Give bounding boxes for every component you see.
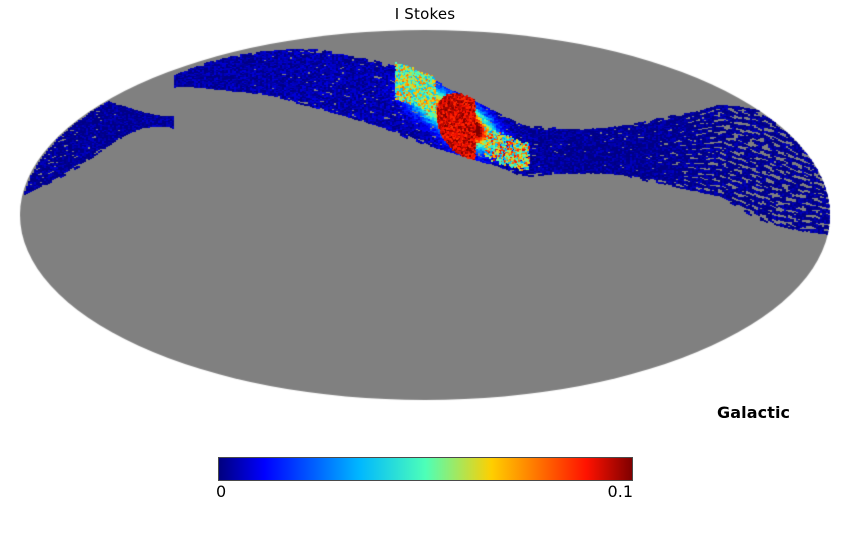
- colorbar-min-tick-label: 0: [216, 482, 226, 502]
- mollweide-sky-map: [0, 0, 850, 440]
- sky-map-figure: I Stokes Galactic 0 0.1: [0, 0, 850, 540]
- coordinate-system-label: Galactic: [717, 403, 790, 423]
- colorbar-max-tick-label: 0.1: [533, 482, 633, 502]
- colorbar: [218, 457, 633, 481]
- colorbar-gradient: [218, 457, 633, 481]
